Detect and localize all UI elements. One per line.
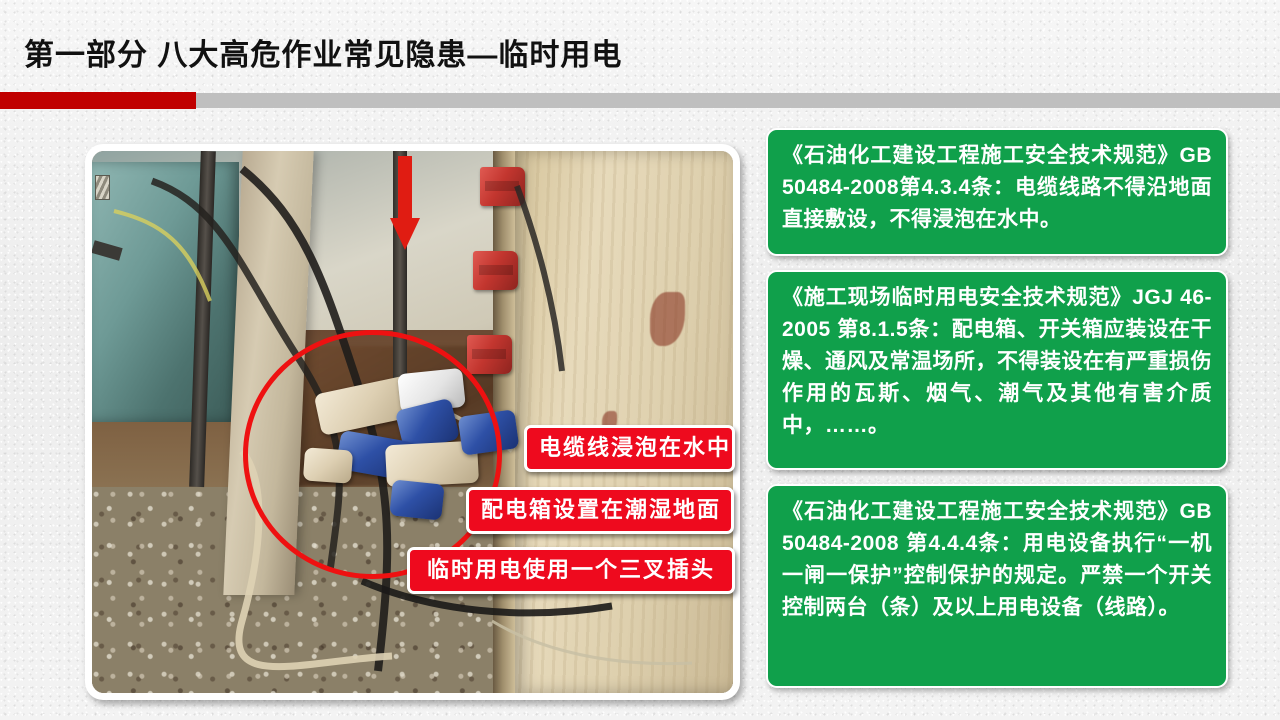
photo-label-cable-soaked: 电缆线浸泡在水中 [524,425,735,472]
photo-label-box-on-wet-ground: 配电箱设置在潮湿地面 [466,487,734,534]
regulation-text: 《石油化工建设工程施工安全技术规范》GB 50484-2008 第4.4.4条：… [782,496,1212,624]
regulation-text: 《石油化工建设工程施工安全技术规范》GB 50484-2008第4.3.4条：电… [782,140,1212,236]
divider-accent-bar [0,92,196,109]
divider-gray-bar [196,93,1280,108]
regulation-box-jgj46-8-1-5: 《施工现场临时用电安全技术规范》JGJ 46-2005 第8.1.5条：配电箱、… [766,270,1228,470]
regulation-box-gb50484-4-3-4: 《石油化工建设工程施工安全技术规范》GB 50484-2008第4.3.4条：电… [766,128,1228,256]
red-highlight-circle-icon [243,330,503,579]
site-photo [92,151,733,693]
slide-canvas: 第一部分 八大高危作业常见隐患—临时用电 [0,0,1280,720]
regulation-box-gb50484-4-4-4: 《石油化工建设工程施工安全技术规范》GB 50484-2008 第4.4.4条：… [766,484,1228,688]
photo-frame [85,144,740,700]
header-divider [0,92,1280,109]
red-arrow-down-icon [390,156,420,252]
page-title: 第一部分 八大高危作业常见隐患—临时用电 [24,30,622,74]
photo-label-three-prong-plug: 临时用电使用一个三叉插头 [407,547,735,594]
regulation-text: 《施工现场临时用电安全技术规范》JGJ 46-2005 第8.1.5条：配电箱、… [782,282,1212,442]
